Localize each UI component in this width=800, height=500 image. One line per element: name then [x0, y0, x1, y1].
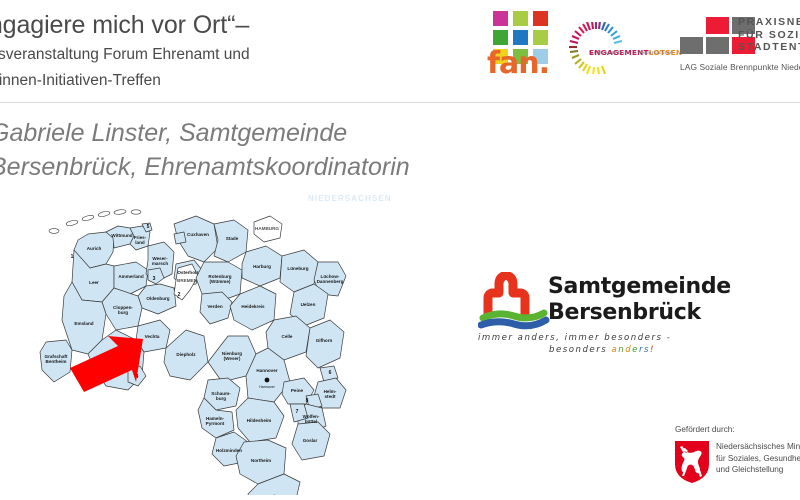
praxisnetz-line: STADTENTWICK [738, 41, 800, 54]
map-label-diepholz: Diepholz [176, 352, 196, 357]
map-label-lueneburg: Lüneburg [287, 266, 308, 271]
map-label-wesermarsch2: marsch [152, 261, 169, 266]
map-label-heidekreis: Heidekreis [241, 304, 265, 309]
map-svg: Aurich Wittmund Fries- land Leer Ammerla… [18, 190, 368, 495]
fan-square [493, 11, 508, 26]
map-label-goettingen: Göttingen [264, 494, 286, 495]
map-label-stade: Stade [226, 236, 239, 241]
map-label-schaumburg2: burg [216, 396, 226, 401]
map-label-northeim: Northeim [251, 458, 271, 463]
map-capital-label: Hannover [259, 385, 275, 389]
samtgemeinde-tagline: immer anders, immer besonders - besonder… [478, 332, 698, 356]
samtgemeinde-tagline-char: ! [650, 345, 655, 355]
funder-lead-text: Gefördert durch: [675, 425, 735, 434]
praxisnetz-wordmark: PRAXISNETZ FÜR SOZIALE STADTENTWICK [738, 16, 800, 54]
samtgemeinde-mark-icon [478, 272, 550, 334]
map-label-osterholz: Osterholz [177, 270, 199, 275]
samtgemeinde-name-line2: Bersenbrück [548, 300, 731, 326]
title-block: ch engagiere mich vor Ort“– perationsver… [0, 10, 462, 92]
praxisnetz-footer: LAG Soziale Brennpunkte Niedersach [680, 62, 800, 72]
samtgemeinde-name-line1: Samtgemeinde [548, 274, 731, 300]
map-marker-1: 1 [71, 254, 74, 260]
fan-square [533, 11, 548, 26]
funder-name-line2: für Soziales, Gesundheit [716, 453, 800, 465]
fan-square [493, 30, 508, 45]
map-label-wolfenbuettel2: büttel [305, 419, 318, 424]
samtgemeinde-tagline-char: e [632, 345, 639, 355]
district-stade [214, 220, 248, 262]
map-island [49, 229, 59, 234]
map-label-verden: Verden [207, 304, 223, 309]
map-label-hameln2: Pyrmont [206, 421, 225, 426]
map-label-hildesheim: Hildesheim [247, 418, 272, 423]
district-gifhorn [306, 320, 344, 368]
map-island [114, 209, 126, 215]
map-island [66, 220, 79, 227]
page-subtitle-line1: perationsveranstaltung Forum Ehrenamt un… [0, 44, 462, 66]
slide-header: ch engagiere mich vor Ort“– perationsver… [0, 0, 800, 104]
map-label-gifhorn: Gifhorn [316, 338, 333, 343]
map-label-emsland: Emsland [74, 321, 93, 326]
map-label-friesland2: land [135, 240, 145, 245]
funder-block: Gefördert durch: Niedersächsisches Minis… [660, 425, 800, 495]
district-bremerhaven [174, 232, 186, 244]
map-label-grafschaft2: Bentheim [46, 359, 67, 364]
praxisnetz-line: PRAXISNETZ [738, 16, 800, 29]
samtgemeinde-bersenbrueck-logo: Samtgemeinde Bersenbrück immer anders, i… [478, 270, 708, 375]
slide-root: ch engagiere mich vor Ort“– perationsver… [0, 0, 800, 500]
map-label-peine: Peine [291, 388, 304, 393]
fan-logo: fan. [487, 11, 553, 83]
fan-wordmark: fan. [487, 49, 549, 79]
map-label-wittmund: Wittmund [111, 233, 132, 238]
praxisnetz-square-grid [680, 17, 732, 57]
map-label-hamburg: HAMBURG [255, 226, 279, 231]
map-label-uelzen: Uelzen [301, 302, 316, 307]
engagementlotsen-subtitle: für Ehrenamtliche in Niedersachsen [589, 51, 673, 56]
samtgemeinde-tagline-line2: besonders anders! [478, 344, 698, 356]
map-label-bremen: BREMEN [177, 278, 198, 283]
map-marker-5: 5 [147, 224, 150, 230]
samtgemeinde-tagline-colored: anders! [611, 345, 654, 355]
presenter-name: Gabriele Linster, Samtgemeinde Bersenbrü… [0, 116, 590, 184]
praxisnetz-square [706, 37, 729, 54]
map-watermark: NIEDERSACHSEN [308, 194, 392, 203]
map-marker-8: 8 [306, 398, 309, 404]
presenter-line1: Gabriele Linster, Samtgemeinde [0, 116, 590, 150]
map-label-hannover: Hannover [256, 368, 277, 373]
samtgemeinde-wordmark: Samtgemeinde Bersenbrück [548, 274, 731, 326]
map-label-vechta: Vechta [145, 334, 160, 339]
fan-square [513, 30, 528, 45]
map-marker-7: 7 [296, 409, 299, 415]
funder-name: Niedersächsisches Minist für Soziales, G… [716, 441, 800, 476]
map-label-cuxhaven: Cuxhaven [187, 232, 209, 237]
map-label-nienburg2: (Weser) [224, 356, 241, 361]
niedersachsen-map: NIEDERSACHSEN [18, 190, 368, 495]
map-island [98, 211, 111, 218]
samtgemeinde-tagline-line1: immer anders, immer besonders - [478, 332, 698, 344]
header-divider [0, 102, 800, 103]
page-subtitle-line2: wohner*innen-Initiativen-Treffen [0, 70, 462, 92]
presenter-line2: Bersenbrück, Ehrenamtskoordinatorin [0, 150, 590, 184]
funder-name-line1: Niedersächsisches Minist [716, 441, 800, 453]
praxisnetz-logo: PRAXISNETZ FÜR SOZIALE STADTENTWICK LAG … [680, 10, 800, 82]
fan-square [533, 30, 548, 45]
map-label-celle: Celle [282, 334, 293, 339]
map-island [82, 214, 95, 221]
page-title: ch engagiere mich vor Ort“– [0, 10, 462, 40]
funder-name-line3: und Gleichstellung [716, 464, 800, 476]
map-capital-dot [265, 378, 270, 383]
fan-square [513, 11, 528, 26]
praxisnetz-line: FÜR SOZIALE [738, 29, 800, 42]
map-label-luechow2: Dannenberg [317, 279, 344, 284]
map-label-harburg: Harburg [253, 264, 271, 269]
samtgemeinde-tagline-prefix: besonders [549, 345, 611, 355]
map-marker-3: 3 [153, 276, 156, 282]
map-label-leer: Leer [89, 280, 99, 285]
map-marker-6: 6 [329, 370, 332, 376]
praxisnetz-square [680, 37, 703, 54]
engagementlotsen-logo: ENGAGEMENTLOTSEN für Ehrenamtliche in Ni… [566, 22, 670, 74]
map-label-ammerland: Ammerland [118, 274, 143, 279]
map-island [131, 210, 141, 214]
map-label-rotenburg2: (Wümme) [210, 279, 231, 284]
map-label-cloppenburg2: burg [118, 310, 128, 315]
praxisnetz-square [706, 17, 729, 34]
map-label-oldenburg: Oldenburg [146, 296, 169, 301]
map-marker-2: 2 [178, 292, 181, 298]
map-label-aurich: Aurich [87, 246, 102, 251]
map-label-goslar: Goslar [303, 438, 318, 443]
map-label-helmstedt2: stedt [325, 394, 336, 399]
map-label-holzminden: Holzminden [216, 448, 242, 453]
niedersachsen-coat-of-arms-icon [674, 440, 710, 484]
